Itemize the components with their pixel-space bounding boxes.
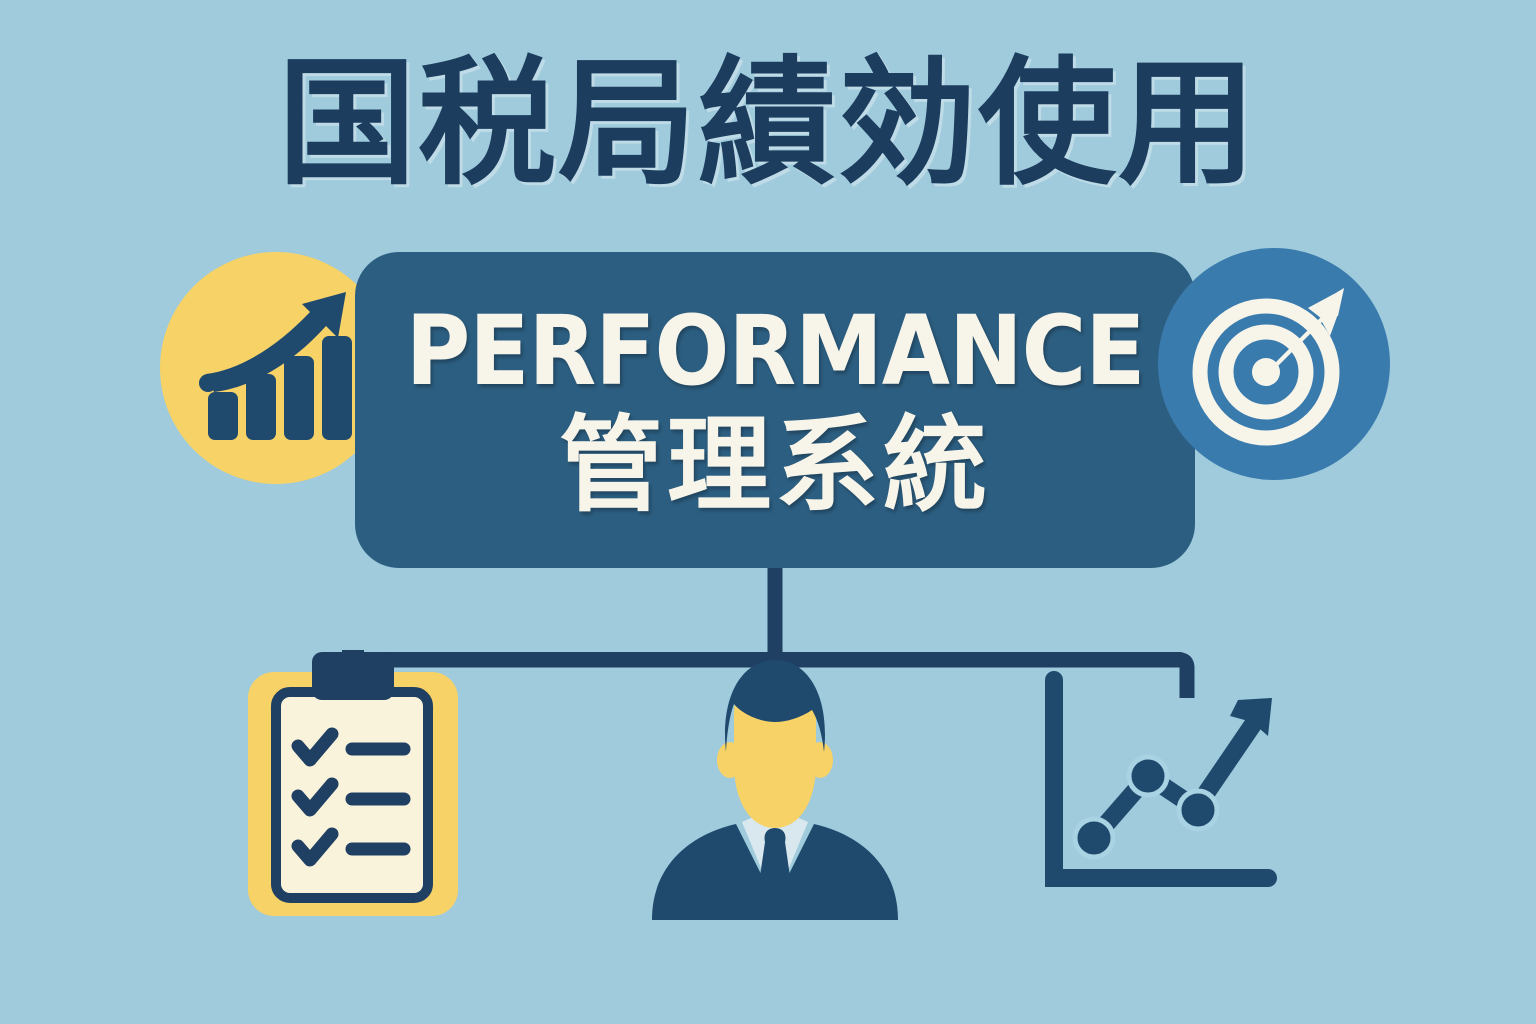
page-title: 国税局績効使用 xyxy=(0,52,1536,197)
clipboard-checklist-icon xyxy=(246,650,460,918)
clipboard-glyph xyxy=(246,650,460,918)
banner-title-cn: 管理系統 xyxy=(559,409,991,521)
business-person-icon xyxy=(630,652,920,920)
banner-title-en: PERFORMANCE xyxy=(406,303,1145,399)
person-glyph xyxy=(630,652,920,920)
poster-canvas: 国税局績効使用 PERFORMANCE 管理系統 xyxy=(0,0,1536,1024)
target-arrow-glyph xyxy=(1158,248,1390,480)
banner-card: PERFORMANCE 管理系統 xyxy=(355,252,1195,568)
target-arrow-icon xyxy=(1158,248,1390,480)
line-chart-glyph xyxy=(1032,660,1288,910)
line-chart-icon xyxy=(1032,660,1288,910)
